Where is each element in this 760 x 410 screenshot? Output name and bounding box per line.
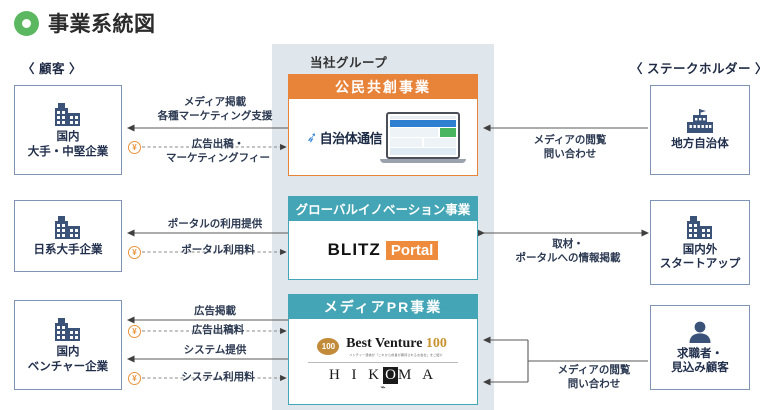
business-body: BLITZ Portal <box>288 221 478 280</box>
best-venture-100-logo: 100 Best Venture 100 ベンチャー通信が「これから成長が期待さ… <box>317 330 448 357</box>
business-section-2[interactable]: グローバルイノベーション事業 BLITZ Portal <box>288 196 478 280</box>
right-flow-label-3: メディアの閲覧 問い合わせ <box>534 364 654 391</box>
flow-label-5: 広告掲載 <box>142 305 288 319</box>
flow-label-7: システム提供 <box>142 344 288 358</box>
entity-right-1[interactable]: 地方自治体 <box>650 85 750 175</box>
person-icon <box>686 320 714 344</box>
left-column-header: 〈 顧客 〉 <box>22 58 82 77</box>
flow-label-1: メディア掲載 各種マーケティング支援 <box>142 96 288 123</box>
flow-label-6: 広告出稿料 <box>152 324 284 338</box>
business-title: メディアPR事業 <box>288 294 478 319</box>
right-flow-label-2: 取材・ ポータルへの情報掲載 <box>490 238 646 265</box>
flow-label-2: 広告出稿・ マーケティングフィー <box>150 138 286 165</box>
building-icon <box>53 101 83 127</box>
brand-name-secondary: Portal <box>386 241 439 260</box>
center-column-header: 当社グループ <box>310 52 387 71</box>
brand-tagline: ベンチャー通信が「これから成長が期待されるお会社」をご紹介 <box>350 352 444 357</box>
laptop-screenshot-icon <box>386 112 460 163</box>
building-icon <box>685 214 715 240</box>
building-icon <box>53 214 83 240</box>
swoosh-icon: ➶ <box>305 129 319 145</box>
divider <box>308 362 458 363</box>
entity-label: 地方自治体 <box>671 137 729 151</box>
entity-label: 求職者・ 見込み顧客 <box>671 347 729 376</box>
jichitai-tsushin-logo: ➶ 自治体通信 <box>306 128 382 147</box>
page-title: 事業系統図 <box>14 8 156 38</box>
brand-name: 自治体通信 <box>320 128 383 147</box>
right-flow-label-1: メディアの閲覧 問い合わせ <box>500 134 640 161</box>
brand-name-primary: BLITZ <box>328 240 381 260</box>
business-title: グローバルイノベーション事業 <box>288 196 478 221</box>
diagram-root: 事業系統図 〈 顧客 〉 当社グループ 〈 ステークホルダー 〉 <box>0 0 760 410</box>
business-body: 100 Best Venture 100 ベンチャー通信が「これから成長が期待さ… <box>288 319 478 405</box>
government-building-icon <box>684 108 716 134</box>
yen-badge-3: ¥ <box>128 325 141 338</box>
right-column-header: 〈 ステークホルダー 〉 <box>630 58 760 77</box>
laurel-badge-icon: 100 <box>317 338 339 355</box>
page-title-text: 事業系統図 <box>48 8 156 38</box>
entity-right-2[interactable]: 国内外 スタートアップ <box>650 200 750 285</box>
entity-label: 国内外 スタートアップ <box>660 243 741 272</box>
brand-name-primary: Best Venture 100 <box>346 336 447 352</box>
yen-badge-1: ¥ <box>128 141 141 154</box>
business-section-1[interactable]: 公民共創事業 ➶ 自治体通信 <box>288 74 478 176</box>
yen-badge-2: ¥ <box>128 246 141 259</box>
tripod-icon: ⌁ <box>380 382 385 393</box>
business-section-3[interactable]: メディアPR事業 100 Best Venture 100 ベンチャー通信が「こ… <box>288 294 478 405</box>
blitz-portal-logo: BLITZ Portal <box>328 240 439 260</box>
business-title: 公民共創事業 <box>288 74 478 99</box>
flow-label-8: システム利用料 <box>152 371 284 385</box>
business-body: ➶ 自治体通信 <box>288 99 478 176</box>
entity-label: 国内 ベンチャー企業 <box>28 345 108 374</box>
entity-left-3[interactable]: 国内 ベンチャー企業 <box>14 300 122 390</box>
entity-left-2[interactable]: 日系大手企業 <box>14 200 122 272</box>
entity-right-3[interactable]: 求職者・ 見込み顧客 <box>650 305 750 390</box>
building-icon <box>53 316 83 342</box>
entity-label: 国内 大手・中堅企業 <box>28 130 109 159</box>
yen-badge-4: ¥ <box>128 372 141 385</box>
flow-label-3: ポータルの利用提供 <box>142 218 288 232</box>
entity-left-1[interactable]: 国内 大手・中堅企業 <box>14 85 122 175</box>
hikoma-logo: H I KOM A ⌁ <box>329 367 437 393</box>
flow-label-4: ポータル利用料 <box>152 244 284 258</box>
entity-label: 日系大手企業 <box>34 243 103 257</box>
bullet-circle-icon <box>14 11 39 36</box>
